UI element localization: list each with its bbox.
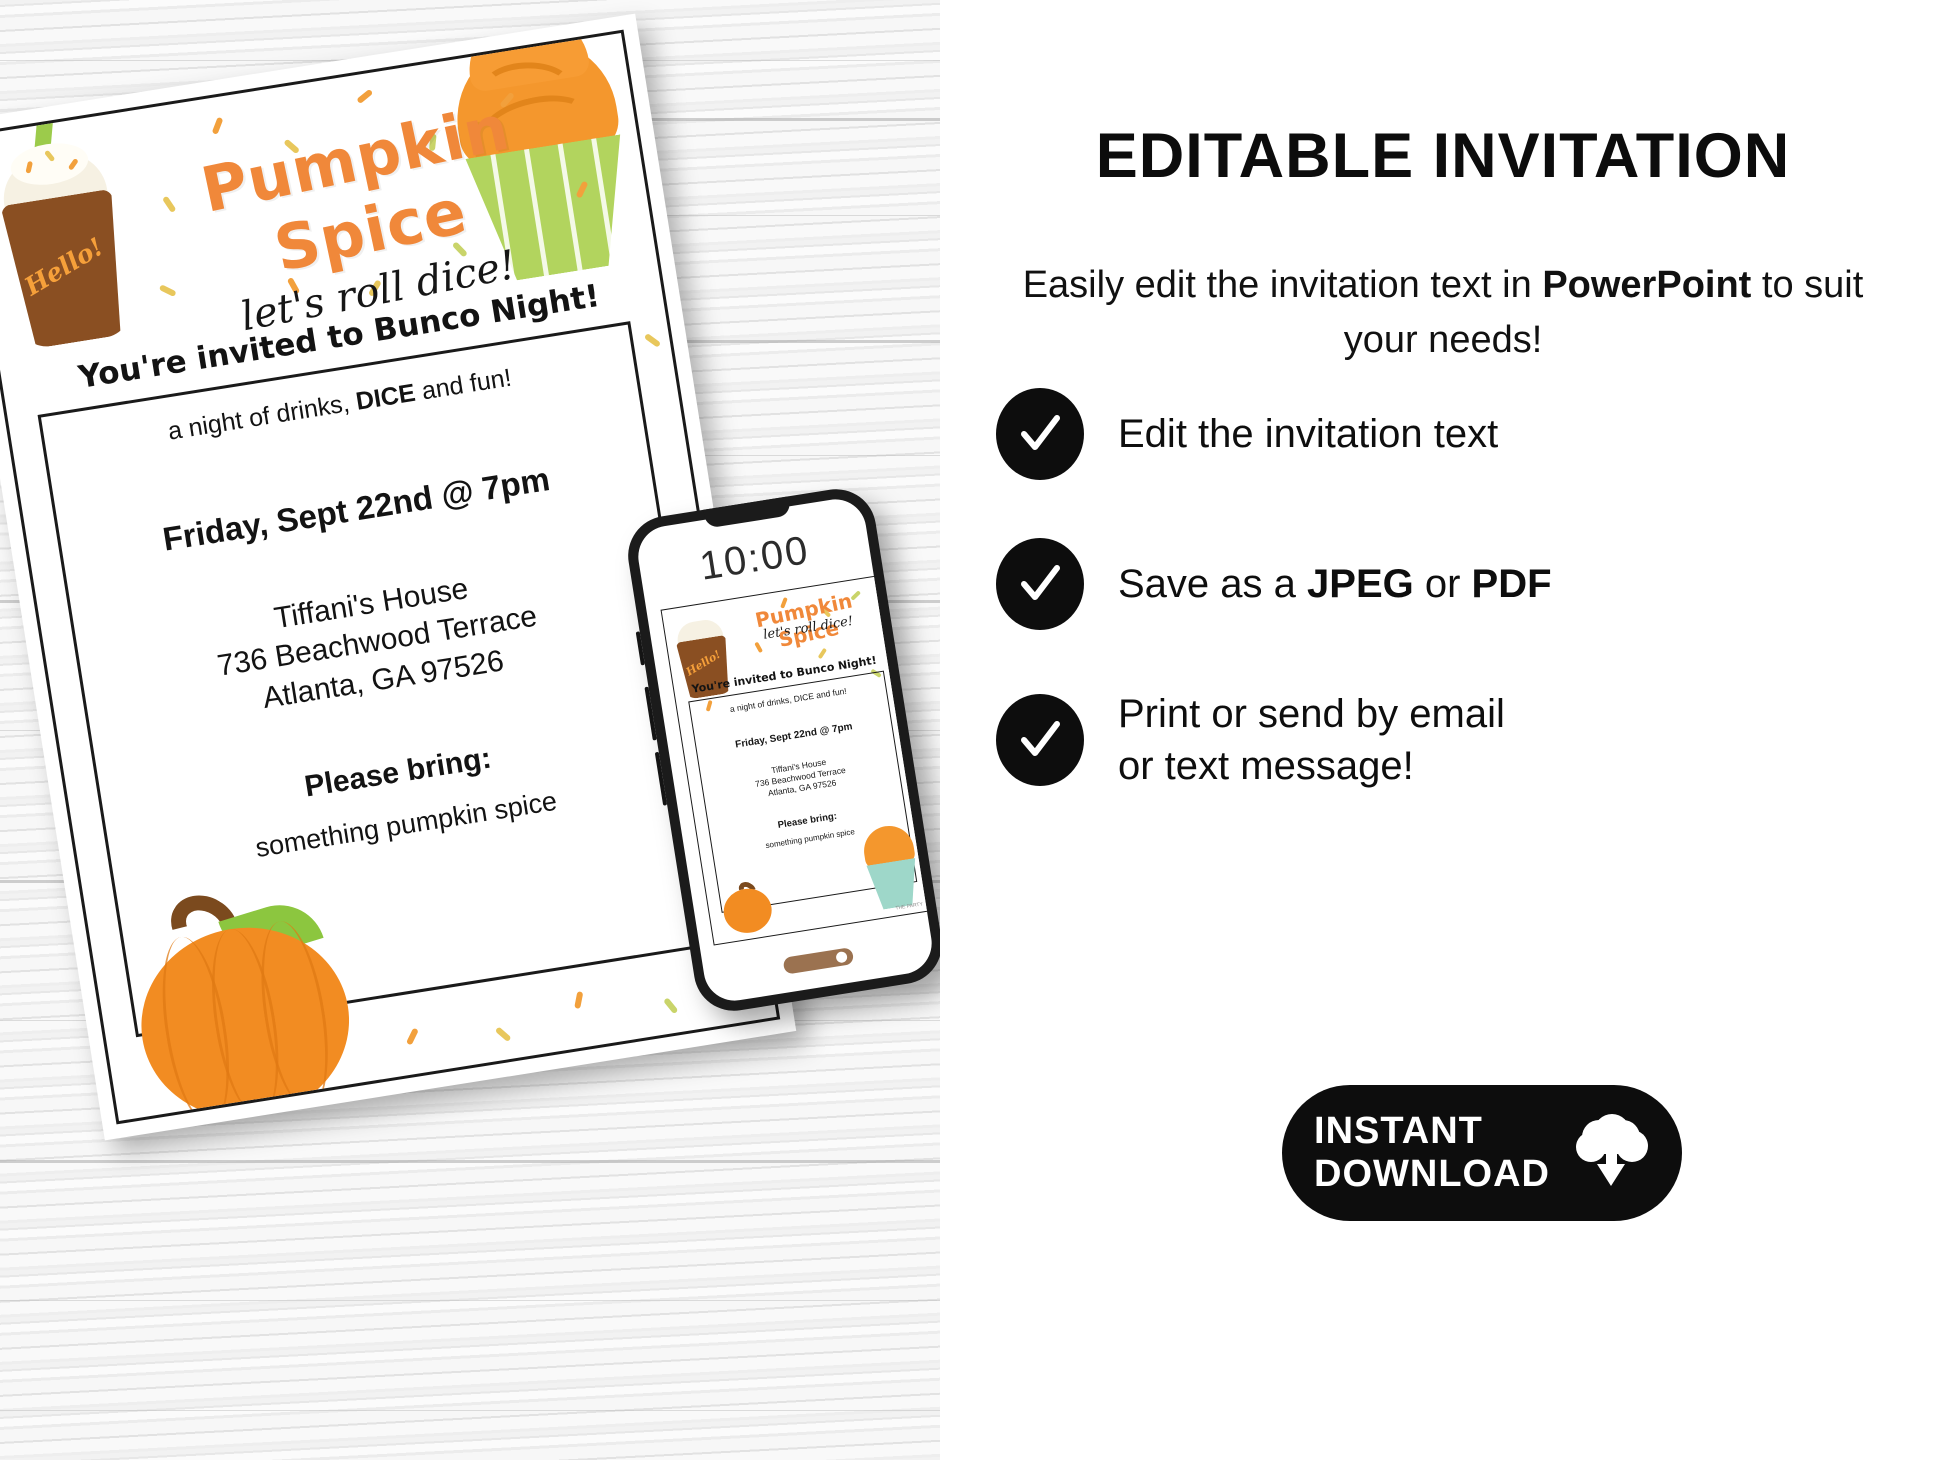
save-format-jpeg: JPEG: [1307, 562, 1414, 606]
print-send-line-1: Print or send by email: [1118, 688, 1505, 740]
coffee-cup-icon: Hello!: [0, 146, 144, 354]
invitation-address: Tiffani's House 736 Beachwood Terrace At…: [75, 539, 680, 746]
screenshot-stage: Hello!: [0, 0, 1946, 1460]
check-icon: [996, 694, 1084, 786]
instant-download-label: INSTANT DOWNLOAD: [1314, 1110, 1550, 1195]
feature-list: Edit the invitation text Save as a JPEG …: [996, 388, 1896, 850]
download-label-line-1: INSTANT: [1314, 1110, 1550, 1153]
save-mid: or: [1414, 562, 1472, 606]
mini-address: Tiffani's House 736 Beachwood Terrace At…: [701, 746, 900, 809]
description-bold: DICE: [354, 379, 417, 416]
subtitle-bold: PowerPoint: [1542, 264, 1751, 306]
check-icon: [996, 388, 1084, 480]
panel-subtitle: Easily edit the invitation text in Power…: [1000, 258, 1886, 368]
pumpkin-icon: [96, 849, 384, 1125]
marketing-panel: EDITABLE INVITATION Easily edit the invi…: [940, 0, 1946, 1460]
feature-item-save-format: Save as a JPEG or PDF: [996, 538, 1896, 630]
mini-pumpkin-icon: [713, 875, 781, 940]
panel-title: EDITABLE INVITATION: [940, 120, 1946, 192]
feature-label-print-send: Print or send by email or text message!: [1118, 688, 1505, 792]
instant-download-button[interactable]: INSTANT DOWNLOAD: [1282, 1085, 1682, 1221]
save-format-pdf: PDF: [1472, 562, 1552, 606]
save-pre: Save as a: [1118, 562, 1307, 606]
print-send-line-2: or text message!: [1118, 740, 1505, 792]
mini-cupcake-icon: [855, 821, 929, 914]
phone-mini-invitation: Hello! Pumpkin Spice let's roll dice! Yo…: [661, 575, 933, 946]
feature-item-print-send: Print or send by email or text message!: [996, 688, 1896, 792]
check-icon: [996, 538, 1084, 630]
subtitle-part-1: Easily edit the invitation text in: [1023, 264, 1543, 306]
description-post: and fun!: [413, 364, 513, 407]
download-label-line-2: DOWNLOAD: [1314, 1153, 1550, 1196]
feature-item-edit-text: Edit the invitation text: [996, 388, 1896, 480]
description-pre: a night of drinks,: [166, 388, 358, 445]
feature-label-save-format: Save as a JPEG or PDF: [1118, 558, 1552, 610]
phone-home-indicator[interactable]: [783, 947, 855, 975]
feature-label-edit-text: Edit the invitation text: [1118, 408, 1498, 460]
cloud-download-icon: [1572, 1114, 1650, 1192]
